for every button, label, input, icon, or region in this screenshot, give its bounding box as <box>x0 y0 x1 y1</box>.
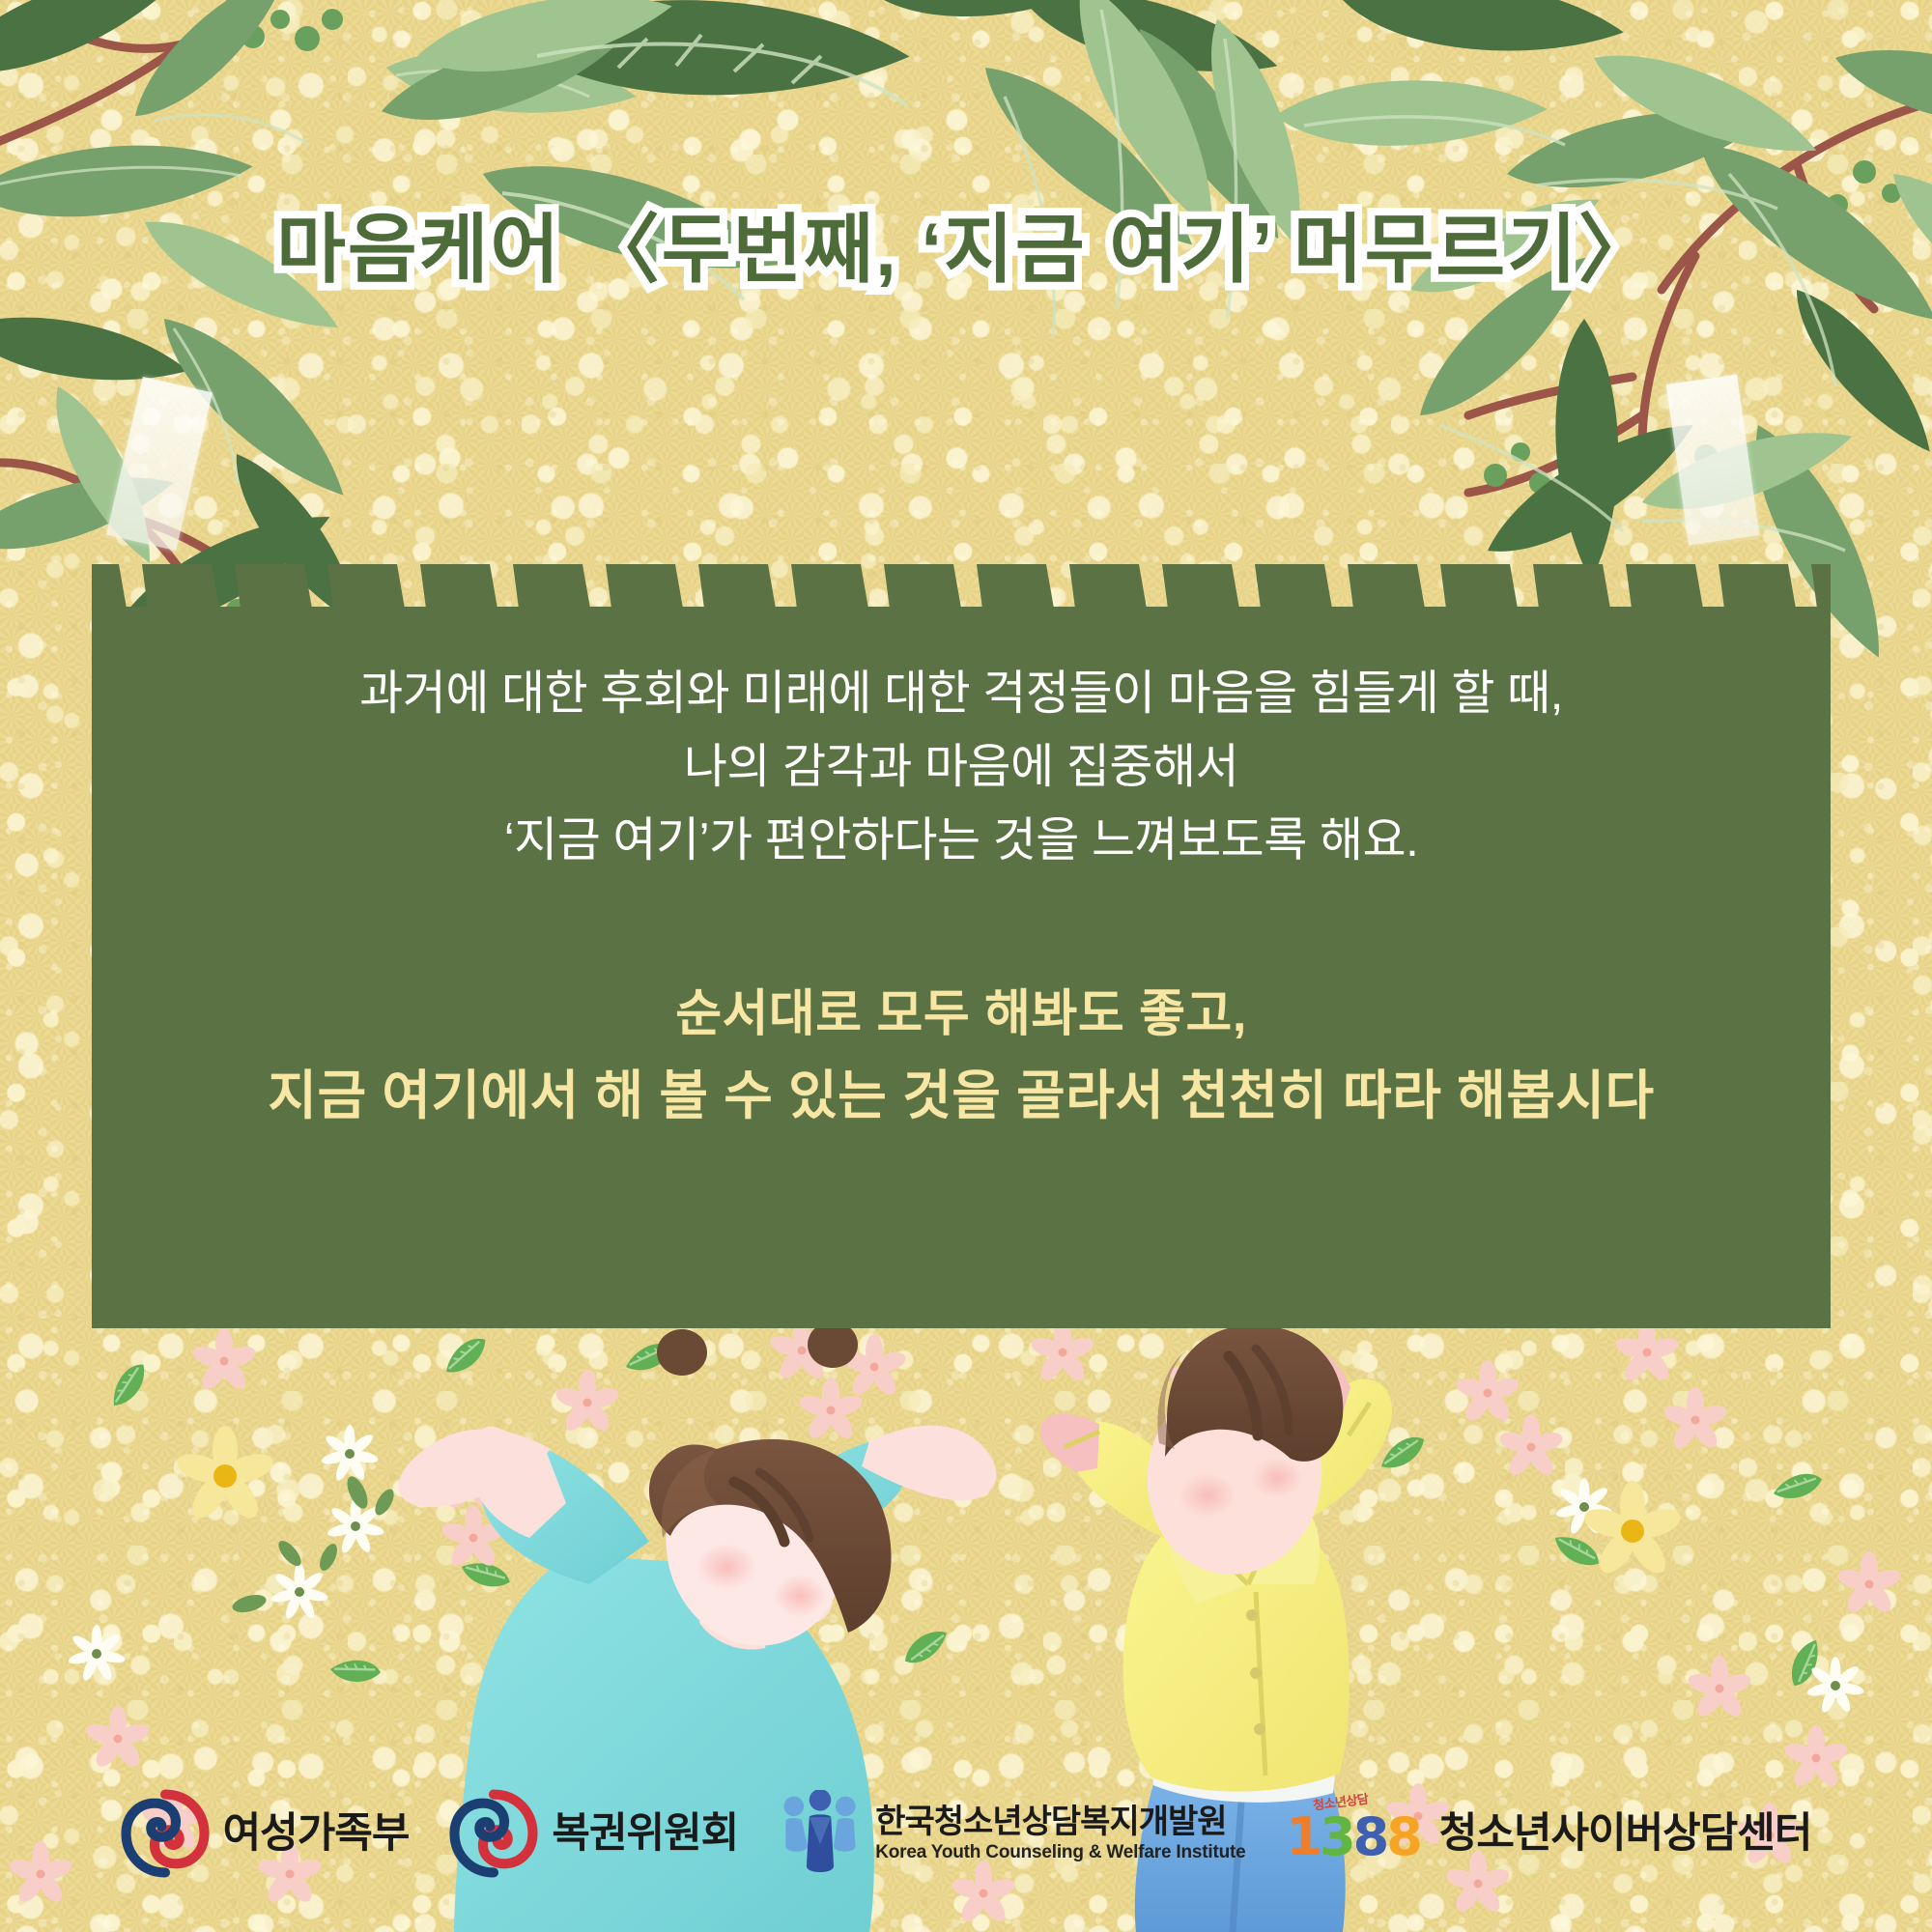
logo-number-1388: 1388 <box>1286 1806 1419 1867</box>
logo-label-cyber1388: 청소년사이버상담센터 <box>1439 1813 1812 1855</box>
logo-label-mogef: 여성가족부 <box>223 1813 410 1855</box>
panel-highlight-text: 순서대로 모두 해봐도 좋고, 지금 여기에서 해 볼 수 있는 것을 골라서 … <box>92 974 1831 1136</box>
logo-kyci: 한국청소년상담복지개발원 Korea Youth Counseling & We… <box>779 1790 1245 1877</box>
1388-icon: 청소년상담 1388 <box>1286 1807 1419 1860</box>
footer-logo-bar: 여성가족부 복권위원회 한국청소년상담복지개발원 Korea Youth Cou <box>0 1776 1932 1891</box>
body-line-1: 과거에 대한 후회와 미래에 대한 걱정들이 마음을 힘들게 할 때, <box>92 657 1831 730</box>
panel-body-text: 과거에 대한 후회와 미래에 대한 걱정들이 마음을 힘들게 할 때, 나의 감… <box>92 657 1831 877</box>
green-note-panel: 과거에 대한 후회와 미래에 대한 걱정들이 마음을 힘들게 할 때, 나의 감… <box>92 551 1831 1328</box>
body-line-3: ‘지금 여기’가 편안하다는 것을 느껴보도록 해요. <box>92 804 1831 877</box>
highlight-line-1: 순서대로 모두 해봐도 좋고, <box>92 974 1831 1055</box>
logo-label-lottery: 복권위원회 <box>552 1813 738 1855</box>
logo-lottery-commission: 복권위원회 <box>449 1789 738 1878</box>
three-people-icon <box>779 1790 862 1877</box>
logo-mogef: 여성가족부 <box>121 1789 410 1878</box>
logo-cyber1388: 청소년상담 1388 청소년사이버상담센터 <box>1286 1807 1811 1860</box>
taegeuk-icon <box>449 1789 538 1878</box>
page-title: 마음케어 〈두번째, ‘지금 여기’ 머무르기〉 <box>0 189 1932 298</box>
tape-strip-right <box>1666 375 1760 546</box>
logo-label-kyci: 한국청소년상담복지개발원 <box>875 1805 1245 1838</box>
poster-canvas: 마음케어 〈두번째, ‘지금 여기’ 머무르기〉 과거에 대한 후회와 미래에 … <box>0 0 1932 1932</box>
tape-strip-left <box>106 377 213 551</box>
torn-paper-edge <box>92 551 1831 609</box>
taegeuk-icon <box>121 1789 210 1878</box>
body-line-2: 나의 감각과 마음에 집중해서 <box>92 730 1831 804</box>
highlight-line-2: 지금 여기에서 해 볼 수 있는 것을 골라서 천천히 따라 해봅시다 <box>92 1055 1831 1136</box>
logo-sublabel-kyci: Korea Youth Counseling & Welfare Institu… <box>875 1843 1245 1861</box>
panel-text-content: 과거에 대한 후회와 미래에 대한 걱정들이 마음을 힘들게 할 때, 나의 감… <box>92 634 1831 1136</box>
